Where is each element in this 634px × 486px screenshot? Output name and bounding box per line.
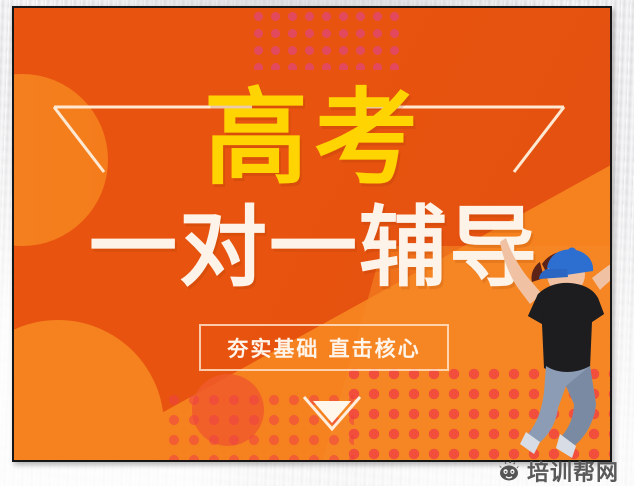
subtitle-text: 夯实基础 直击核心 — [227, 333, 420, 363]
dot-grid-top — [250, 8, 400, 70]
decor-circle-bottom-left — [12, 320, 164, 462]
poster-card: 高考 一对一辅导 夯实基础 直击核心 — [12, 6, 612, 462]
jumping-student-illustration — [500, 236, 612, 462]
sun-face-icon — [497, 460, 521, 482]
watermark-text: 培训帮网 — [527, 455, 619, 486]
headline-primary: 高考 — [14, 86, 612, 190]
subtitle-frame: 夯实基础 直击核心 — [199, 324, 449, 371]
chevron-down-icon — [300, 393, 364, 433]
watermark: 培训帮网 — [497, 455, 619, 486]
poster-page: 高考 一对一辅导 夯实基础 直击核心 — [0, 0, 634, 486]
